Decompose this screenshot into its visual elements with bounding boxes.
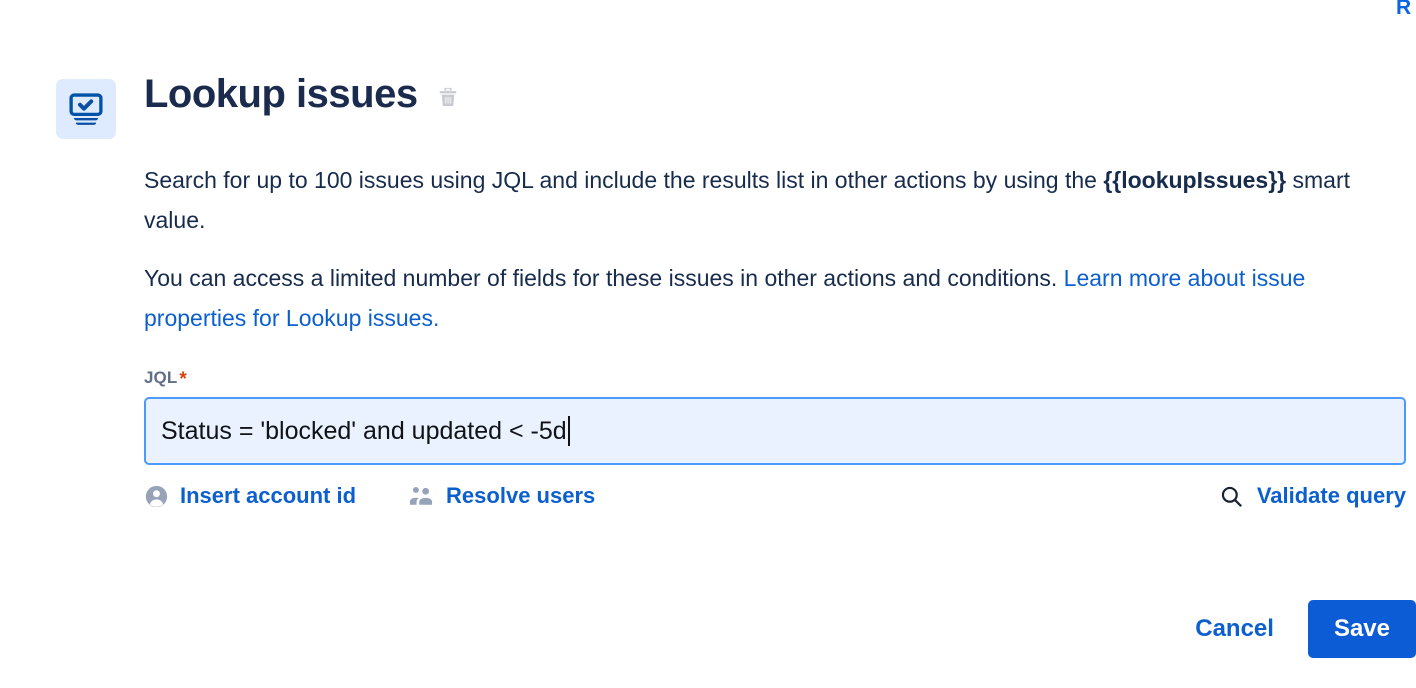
required-asterisk: * [179,370,187,389]
cancel-button[interactable]: Cancel [1191,609,1278,649]
resolve-users-button[interactable]: Resolve users [408,483,595,509]
insert-account-id-button[interactable]: Insert account id [144,483,356,509]
person-icon [144,484,169,509]
people-icon [408,484,435,509]
panel-content: Search for up to 100 issues using JQL an… [144,160,1394,509]
resolve-users-label: Resolve users [446,483,595,509]
jql-field-label: JQL * [144,368,1394,388]
lookup-issues-icon [56,79,116,139]
smart-value-token: {{lookupIssues}} [1103,167,1286,193]
jql-actions-row: Insert account id Resolve users [144,483,1406,509]
trash-icon[interactable] [434,83,462,111]
title-wrap: Lookup issues [144,62,462,118]
save-button[interactable]: Save [1308,600,1416,658]
validate-query-label: Validate query [1257,483,1406,509]
search-icon [1219,484,1244,509]
text-cursor [568,416,570,446]
insert-account-id-label: Insert account id [180,483,356,509]
panel-header: Lookup issues [56,62,1410,139]
jql-label-text: JQL [144,368,177,388]
validate-query-button[interactable]: Validate query [1219,483,1406,509]
description-text-1a: Search for up to 100 issues using JQL an… [144,167,1103,193]
lookup-issues-panel: Lookup issues Search for up to 100 issue… [0,0,1416,688]
jql-input-value: Status = 'blocked' and updated < -5d [161,416,567,446]
page-title: Lookup issues [144,70,418,118]
footer-actions: Cancel Save [1191,600,1416,658]
jql-input[interactable]: Status = 'blocked' and updated < -5d [144,397,1406,465]
description-text-2a: You can access a limited number of field… [144,265,1064,291]
description-paragraph-2: You can access a limited number of field… [144,258,1394,338]
description-paragraph-1: Search for up to 100 issues using JQL an… [144,160,1394,240]
